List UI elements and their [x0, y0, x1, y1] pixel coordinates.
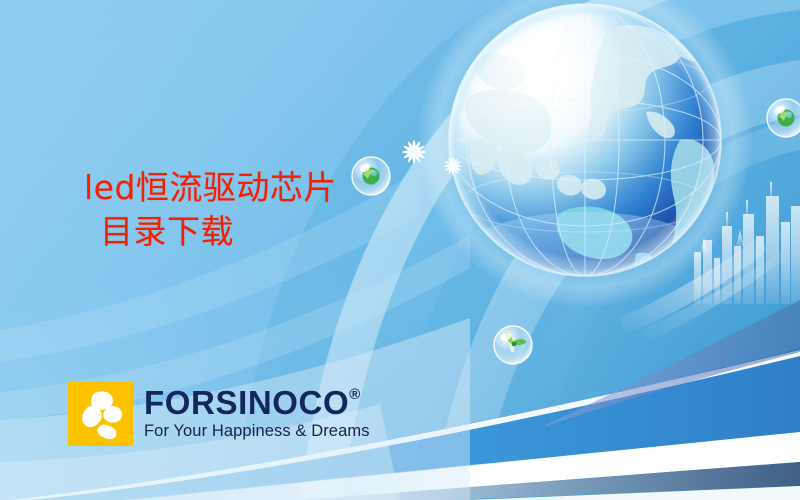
logo-wordmark-text: FORSINOCO	[144, 384, 349, 421]
headline-line-2: 目录下载	[84, 210, 337, 254]
bubble-globe-small	[352, 157, 390, 195]
logo-text-block: FORSINOCO® For Your Happiness & Dreams	[144, 382, 370, 440]
bubble-leaf	[494, 326, 532, 364]
bubble-globe-top-right	[767, 99, 800, 137]
promo-banner: led恒流驱动芯片 目录下载 FORSINOCO® For Your Happi…	[0, 0, 800, 500]
headline-line-1: led恒流驱动芯片	[84, 166, 337, 210]
forsinoco-pinwheel-icon	[68, 382, 133, 446]
company-logo[interactable]: FORSINOCO® For Your Happiness & Dreams	[68, 382, 370, 446]
logo-wordmark: FORSINOCO®	[144, 386, 370, 419]
headline: led恒流驱动芯片 目录下载	[84, 166, 337, 253]
logo-tagline: For Your Happiness & Dreams	[144, 423, 370, 440]
registered-trademark-icon: ®	[349, 386, 360, 403]
